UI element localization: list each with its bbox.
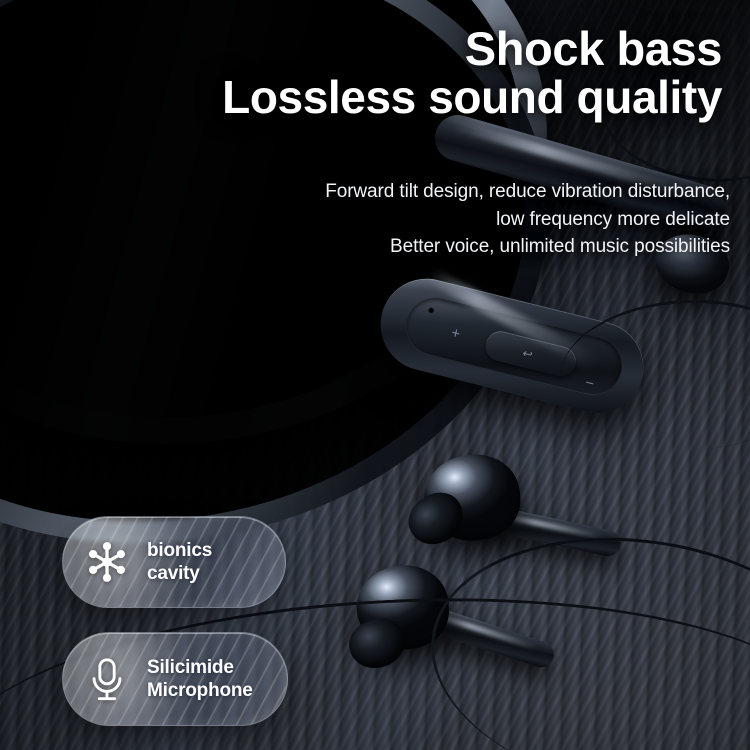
headline-line-1: Shock bass [222, 24, 722, 73]
subhead-line-3: Better voice, unlimited music possibilit… [325, 233, 730, 261]
product-banner: + ↩ − Shock bass Lossless sound quality … [0, 0, 750, 750]
feature-badge-bionics-cavity: bionics cavity [62, 516, 286, 608]
subhead-line-2: low frequency more delicate [325, 206, 730, 234]
feature-badge-silicimide-microphone: Silicimide Microphone [62, 632, 288, 726]
headline-line-2: Lossless sound quality [222, 73, 722, 121]
subhead-line-1: Forward tilt design, reduce vibration di… [325, 178, 730, 206]
feature-badge-microphone-label: Silicimide Microphone [147, 656, 253, 702]
subhead: Forward tilt design, reduce vibration di… [325, 178, 730, 261]
molecule-icon [83, 538, 131, 586]
microphone-icon [83, 655, 131, 703]
feature-badge-bionics-label: bionics cavity [147, 539, 212, 585]
headline: Shock bass Lossless sound quality [222, 24, 722, 122]
